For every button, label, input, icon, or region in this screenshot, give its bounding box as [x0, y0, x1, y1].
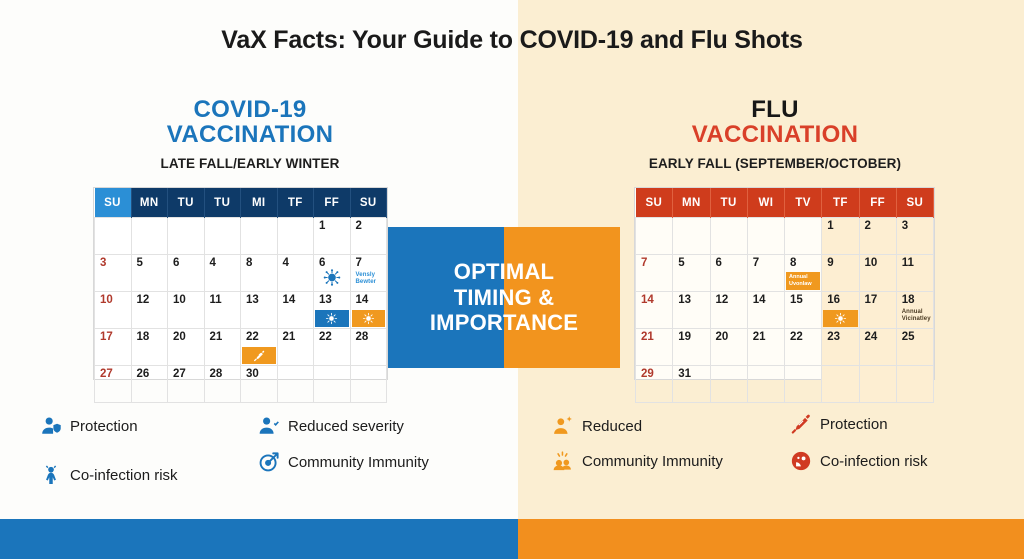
calendar-day-cell[interactable]: 10 [168, 292, 205, 329]
calendar-day-cell[interactable] [673, 218, 710, 255]
day-number: 14 [753, 295, 784, 307]
cell-note: Annual Vicinatley [902, 309, 933, 324]
day-header-tv-4: TV [785, 188, 822, 218]
calendar-day-cell[interactable] [350, 366, 387, 403]
calendar-day-cell[interactable]: 14 [277, 292, 314, 329]
calendar-day-cell[interactable]: 28 [350, 329, 387, 366]
benefit-item-flu-1[interactable]: Protection [790, 413, 888, 435]
virus-circle-icon [790, 450, 812, 472]
day-number: 6 [319, 258, 350, 270]
day-number: 14 [356, 295, 387, 307]
benefit-item-covid-2[interactable]: Co-infection risk [40, 464, 178, 486]
calendar-day-cell[interactable]: 24 [859, 329, 896, 366]
calendar-day-cell[interactable]: 9 [822, 255, 859, 292]
benefit-label: Reduced [582, 418, 642, 435]
day-number: 8 [790, 258, 821, 270]
day-number: 21 [753, 332, 784, 344]
day-number: 7 [753, 258, 784, 270]
day-number: 18 [137, 332, 168, 344]
day-number: 17 [865, 295, 896, 307]
flu-section-heading: FLU VACCINATION EARLY FALL (SEPTEMBER/OC… [630, 98, 920, 171]
flu-calendar-body[interactable]: 12375678Annual Uvonlaw910111413121415161… [636, 218, 934, 403]
day-number: 1 [827, 221, 858, 233]
calendar-day-cell[interactable]: 30 [241, 366, 278, 403]
day-number: 16 [827, 295, 858, 307]
calendar-week-row: 1718202122212228 [95, 329, 387, 366]
calendar-day-cell[interactable]: 13 [241, 292, 278, 329]
vaccination-marker-chip[interactable] [352, 310, 386, 327]
calendar-day-cell[interactable]: 8 [241, 255, 278, 292]
syringe-icon [790, 413, 812, 435]
calendar-day-cell[interactable]: 19 [673, 329, 710, 366]
calendar-day-cell[interactable]: 4 [204, 255, 241, 292]
calendar-day-cell[interactable] [747, 366, 784, 403]
calendar-day-cell[interactable]: 13 [673, 292, 710, 329]
day-number: 6 [173, 258, 204, 270]
day-number: 28 [356, 332, 387, 344]
day-number: 30 [246, 369, 277, 381]
calendar-week-row: 75678Annual Uvonlaw91011 [636, 255, 934, 292]
page-title: VaX Facts: Your Guide to COVID-19 and Fl… [0, 26, 1024, 55]
infographic-canvas: VaX Facts: Your Guide to COVID-19 and Fl… [0, 0, 1024, 559]
calendar-day-cell[interactable] [314, 366, 351, 403]
day-header-su-0: SU [95, 188, 132, 218]
day-number: 7 [356, 258, 387, 270]
day-number: 2 [865, 221, 896, 233]
benefit-label: Co-infection risk [820, 453, 928, 470]
calendar-day-cell[interactable]: 10 [859, 255, 896, 292]
footer-bar-blue [0, 519, 518, 559]
calendar-day-cell[interactable]: 13 [314, 292, 351, 329]
covid-calendar-body[interactable]: 1235648467Vensly Bewter10121011131413141… [95, 218, 387, 403]
calendar-day-cell[interactable]: 22 [785, 329, 822, 366]
virus-icon [323, 269, 340, 289]
calendar-day-cell[interactable] [241, 218, 278, 255]
day-header-mn-1: MN [673, 188, 710, 218]
calendar-day-cell[interactable]: 27 [168, 366, 205, 403]
covid-subtitle: LATE FALL/EARLY WINTER [105, 156, 395, 171]
calendar-day-cell[interactable]: 29 [636, 366, 673, 403]
day-number: 9 [827, 258, 858, 270]
calendar-week-row: 2726272830 [95, 366, 387, 403]
benefit-label: Community Immunity [288, 454, 429, 471]
calendar-day-cell[interactable]: 27 [95, 366, 132, 403]
calendar-day-cell[interactable]: 12 [710, 292, 747, 329]
calendar-day-cell[interactable] [168, 218, 205, 255]
benefit-item-flu-2[interactable]: Community Immunity [552, 450, 723, 472]
vaccination-marker-chip[interactable] [242, 347, 276, 364]
calendar-day-cell[interactable]: 18 [131, 329, 168, 366]
calendar-day-cell[interactable]: 22 [241, 329, 278, 366]
calendar-day-cell[interactable] [95, 218, 132, 255]
benefit-item-covid-1[interactable]: Reduced severity [258, 415, 404, 437]
calendar-week-row: 2119202122232425 [636, 329, 934, 366]
benefit-label: Co-infection risk [70, 467, 178, 484]
calendar-week-row: 123 [636, 218, 934, 255]
calendar-day-cell[interactable]: 26 [131, 366, 168, 403]
calendar-day-cell[interactable]: 14 [350, 292, 387, 329]
calendar-day-cell[interactable]: 6 [710, 255, 747, 292]
day-number: 11 [210, 295, 241, 307]
day-header-su-7: SU [896, 188, 933, 218]
marker-label: Annual Uvonlaw [789, 274, 820, 287]
calendar-day-cell[interactable] [747, 218, 784, 255]
day-number: 31 [678, 369, 709, 381]
day-header-mn-1: MN [131, 188, 168, 218]
day-header-ff-6: FF [314, 188, 351, 218]
flu-calendar[interactable]: SUMNTUWITVTFFFSU 12375678Annual Uvonlaw9… [634, 187, 935, 380]
day-header-tf-5: TF [822, 188, 859, 218]
calendar-day-cell[interactable]: 16 [822, 292, 859, 329]
day-number: 7 [641, 258, 672, 270]
day-header-wi-3: WI [747, 188, 784, 218]
day-number: 22 [246, 332, 277, 344]
calendar-day-cell[interactable]: 23 [822, 329, 859, 366]
vaccination-marker-chip[interactable] [315, 310, 349, 327]
calendar-day-cell[interactable]: 21 [277, 329, 314, 366]
benefit-item-flu-3[interactable]: Co-infection risk [790, 450, 928, 472]
calendar-day-cell[interactable]: 5 [673, 255, 710, 292]
calendar-day-cell[interactable] [785, 218, 822, 255]
calendar-day-cell[interactable] [896, 366, 933, 403]
benefit-item-flu-0[interactable]: Reduced [552, 415, 642, 437]
calendar-day-cell[interactable]: 7 [747, 255, 784, 292]
benefit-item-covid-0[interactable]: Protection [40, 415, 138, 437]
calendar-day-cell[interactable]: 21 [636, 329, 673, 366]
calendar-day-cell[interactable]: 11 [204, 292, 241, 329]
day-number: 21 [210, 332, 241, 344]
day-number: 23 [827, 332, 858, 344]
calendar-day-cell[interactable]: 8Annual Uvonlaw [785, 255, 822, 292]
day-number: 20 [173, 332, 204, 344]
day-number: 12 [137, 295, 168, 307]
day-number: 27 [100, 369, 131, 381]
calendar-day-cell[interactable]: 25 [896, 329, 933, 366]
center-panel-line1: OPTIMAL [454, 259, 554, 285]
calendar-day-cell[interactable]: 1 [822, 218, 859, 255]
benefit-label: Reduced severity [288, 418, 404, 435]
day-number: 14 [283, 295, 314, 307]
calendar-day-cell[interactable]: 20 [168, 329, 205, 366]
calendar-day-cell[interactable] [785, 366, 822, 403]
calendar-day-cell[interactable]: 21 [747, 329, 784, 366]
vaccination-marker-chip[interactable]: Annual Uvonlaw [786, 272, 820, 290]
covid-section-heading: COVID-19 VACCINATION LATE FALL/EARLY WIN… [105, 98, 395, 171]
calendar-day-cell[interactable]: 4 [277, 255, 314, 292]
calendar-day-cell[interactable]: 28 [204, 366, 241, 403]
calendar-day-cell[interactable]: 6 [168, 255, 205, 292]
calendar-day-cell[interactable]: 18Annual Vicinatley [896, 292, 933, 329]
day-header-mi-4: MI [241, 188, 278, 218]
covid-heading-line1: COVID-19 [105, 98, 395, 123]
calendar-day-cell[interactable]: 14 [747, 292, 784, 329]
day-number: 5 [678, 258, 709, 270]
calendar-day-cell[interactable]: 20 [710, 329, 747, 366]
center-highlight-panel: OPTIMAL TIMING & IMPORTANCE [388, 227, 620, 368]
day-number: 12 [716, 295, 747, 307]
calendar-day-cell[interactable]: 7 [636, 255, 673, 292]
flu-heading-line2: VACCINATION [630, 123, 920, 148]
calendar-day-cell[interactable]: 2 [350, 218, 387, 255]
person-check-icon [258, 415, 280, 437]
day-number: 5 [137, 258, 168, 270]
target-arrow-icon [258, 451, 280, 473]
calendar-day-cell[interactable]: 31 [673, 366, 710, 403]
calendar-day-cell[interactable]: 21 [204, 329, 241, 366]
calendar-week-row: 2931 [636, 366, 934, 403]
day-number: 26 [137, 369, 168, 381]
calendar-day-cell[interactable]: 10 [95, 292, 132, 329]
calendar-day-cell[interactable]: 17 [95, 329, 132, 366]
cell-note: Vensly Bewter [356, 272, 387, 287]
day-number: 27 [173, 369, 204, 381]
day-number: 22 [790, 332, 821, 344]
benefit-label: Protection [70, 418, 138, 435]
calendar-day-cell[interactable]: 17 [859, 292, 896, 329]
day-number: 4 [283, 258, 314, 270]
covid-calendar[interactable]: SUMNTUTUMITFFFSU 1235648467Vensly Bewter… [93, 187, 388, 380]
day-number: 18 [902, 295, 933, 307]
day-number: 10 [100, 295, 131, 307]
calendar-day-cell[interactable]: 6 [314, 255, 351, 292]
calendar-day-cell[interactable]: 7Vensly Bewter [350, 255, 387, 292]
calendar-day-cell[interactable]: 11 [896, 255, 933, 292]
day-header-ff-6: FF [859, 188, 896, 218]
day-number: 21 [641, 332, 672, 344]
day-number: 29 [641, 369, 672, 381]
day-number: 1 [319, 221, 350, 233]
person-raised-arms-icon [40, 464, 62, 486]
day-number: 13 [246, 295, 277, 307]
people-burst-icon [552, 450, 574, 472]
day-number: 19 [678, 332, 709, 344]
day-number: 21 [283, 332, 314, 344]
calendar-day-cell[interactable]: 14 [636, 292, 673, 329]
day-number: 8 [246, 258, 277, 270]
calendar-day-cell[interactable]: 5 [131, 255, 168, 292]
footer-bar-orange [518, 519, 1024, 559]
center-panel-line2: TIMING & [454, 285, 555, 311]
day-number: 6 [716, 258, 747, 270]
day-header-tu-2: TU [710, 188, 747, 218]
day-number: 28 [210, 369, 241, 381]
covid-heading-line2: VACCINATION [105, 123, 395, 148]
calendar-day-cell[interactable] [204, 218, 241, 255]
calendar-week-row: 12 [95, 218, 387, 255]
benefit-item-covid-3[interactable]: Community Immunity [258, 451, 429, 473]
day-number: 3 [100, 258, 131, 270]
day-number: 22 [319, 332, 350, 344]
person-sparkle-icon [552, 415, 574, 437]
calendar-day-cell[interactable] [822, 366, 859, 403]
calendar-week-row: 1012101113141314 [95, 292, 387, 329]
day-number: 17 [100, 332, 131, 344]
day-header-tu-2: TU [168, 188, 205, 218]
calendar-day-cell[interactable]: 3 [95, 255, 132, 292]
day-number: 15 [790, 295, 821, 307]
calendar-day-cell[interactable]: 2 [859, 218, 896, 255]
day-number: 25 [902, 332, 933, 344]
calendar-day-cell[interactable]: 1 [314, 218, 351, 255]
day-number: 10 [173, 295, 204, 307]
calendar-day-cell[interactable]: 12 [131, 292, 168, 329]
person-shield-icon [40, 415, 62, 437]
benefit-label: Community Immunity [582, 453, 723, 470]
day-number: 13 [678, 295, 709, 307]
vaccination-marker-chip[interactable] [823, 310, 857, 327]
day-number: 13 [319, 295, 350, 307]
center-panel-text: OPTIMAL TIMING & IMPORTANCE [388, 227, 620, 368]
calendar-day-cell[interactable] [636, 218, 673, 255]
calendar-week-row: 1413121415161718Annual Vicinatley [636, 292, 934, 329]
benefit-label: Protection [820, 416, 888, 433]
day-number: 24 [865, 332, 896, 344]
day-header-tf-5: TF [277, 188, 314, 218]
calendar-week-row: 35648467Vensly Bewter [95, 255, 387, 292]
day-number: 3 [902, 221, 933, 233]
flu-calendar-header-row: SUMNTUWITVTFFFSU [636, 188, 934, 218]
covid-calendar-header-row: SUMNTUTUMITFFFSU [95, 188, 387, 218]
calendar-day-cell[interactable] [710, 218, 747, 255]
flu-subtitle: EARLY FALL (SEPTEMBER/OCTOBER) [630, 156, 920, 171]
center-panel-line3: IMPORTANCE [430, 310, 578, 336]
day-number: 2 [356, 221, 387, 233]
day-number: 4 [210, 258, 241, 270]
day-header-su-0: SU [636, 188, 673, 218]
calendar-day-cell[interactable] [277, 218, 314, 255]
calendar-day-cell[interactable] [131, 218, 168, 255]
day-number: 14 [641, 295, 672, 307]
calendar-day-cell[interactable]: 3 [896, 218, 933, 255]
calendar-day-cell[interactable] [859, 366, 896, 403]
day-number: 10 [865, 258, 896, 270]
calendar-day-cell[interactable]: 22 [314, 329, 351, 366]
day-header-su-7: SU [350, 188, 387, 218]
flu-heading-line1: FLU [630, 98, 920, 123]
calendar-day-cell[interactable] [710, 366, 747, 403]
day-number: 11 [902, 258, 933, 270]
calendar-day-cell[interactable]: 15 [785, 292, 822, 329]
day-header-tu-3: TU [204, 188, 241, 218]
calendar-day-cell[interactable] [277, 366, 314, 403]
day-number: 20 [716, 332, 747, 344]
